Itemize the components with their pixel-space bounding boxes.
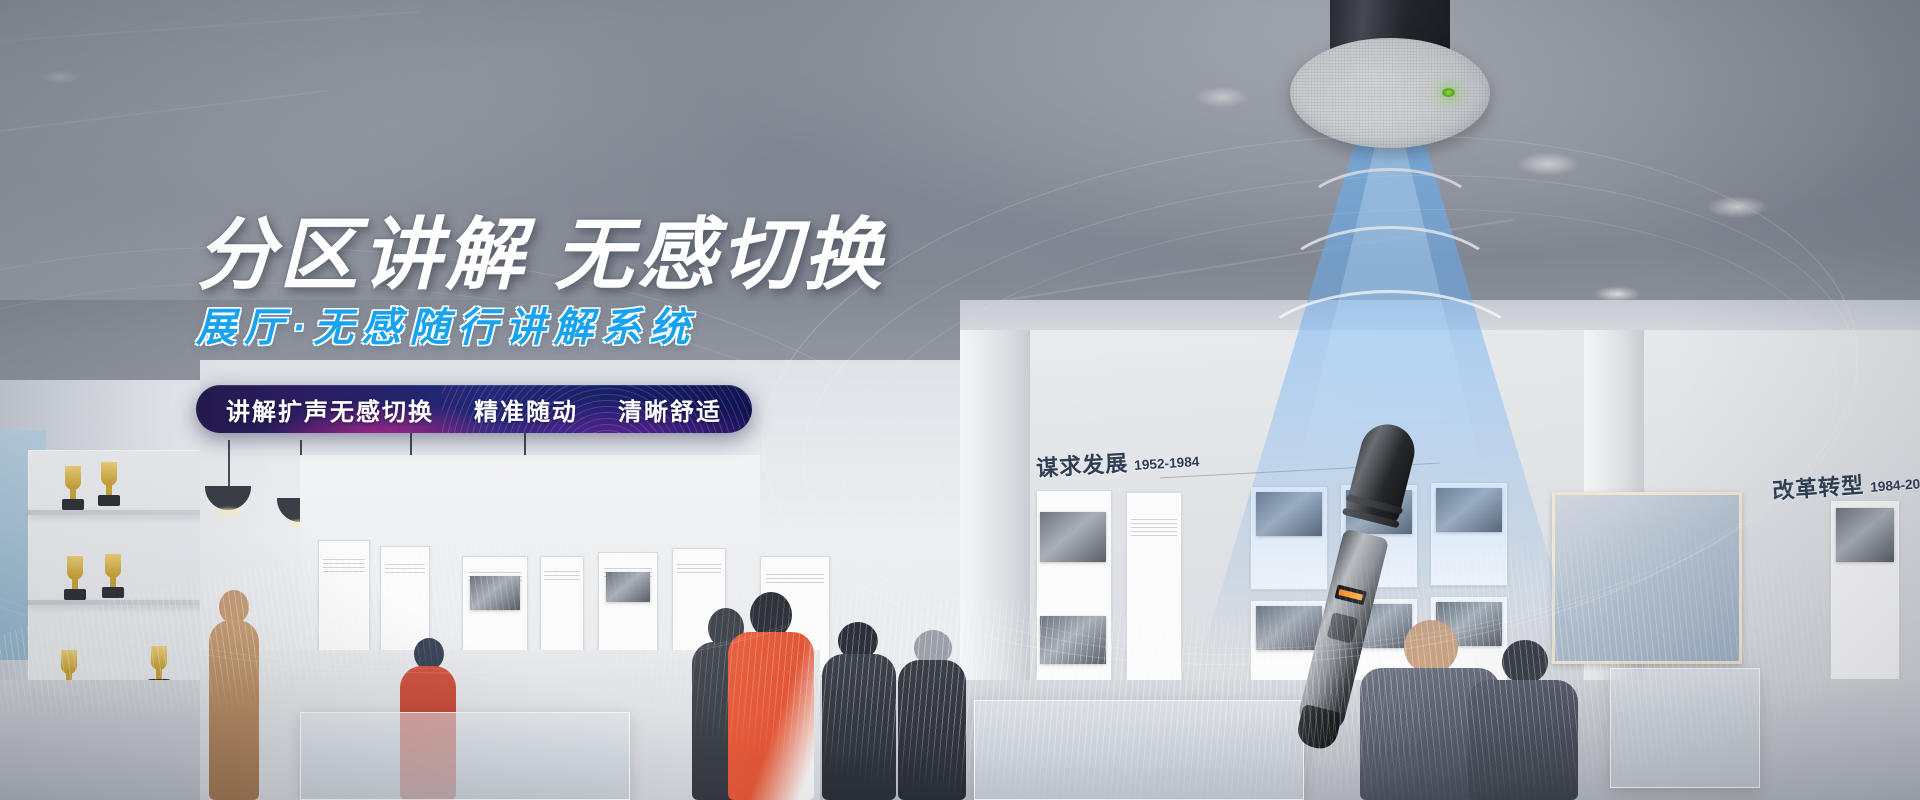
framed-painting bbox=[1552, 492, 1742, 664]
visitor-body bbox=[822, 654, 896, 800]
trophy-icon bbox=[98, 462, 120, 506]
sound-wave-arc bbox=[1252, 290, 1528, 420]
shelf bbox=[28, 600, 218, 605]
downlight-icon bbox=[1516, 152, 1580, 176]
historic-photo bbox=[470, 576, 520, 610]
shelf bbox=[28, 510, 218, 515]
downlight-icon bbox=[1706, 196, 1768, 218]
page-subtitle: 展厅·无感随行讲解系统 bbox=[196, 308, 1096, 348]
wall-exhibit-years-2: 1984-2010 bbox=[1870, 475, 1920, 495]
wall-exhibit-title-2-text: 改革转型 bbox=[1771, 472, 1865, 503]
feature-item-1: 讲解扩声无感切换 bbox=[226, 392, 434, 427]
display-case bbox=[300, 712, 630, 800]
feature-item-3: 清晰舒适 bbox=[618, 392, 722, 427]
speaker-led-indicator bbox=[1442, 88, 1455, 97]
visitor-body bbox=[898, 660, 966, 800]
visitor-body bbox=[728, 632, 814, 800]
page-title: 分区讲解 无感切换 bbox=[196, 215, 1096, 294]
trophy-icon bbox=[62, 466, 84, 510]
display-case bbox=[1610, 668, 1760, 788]
visitor bbox=[898, 630, 966, 800]
wall-exhibit-title-1-text: 谋求发展 bbox=[1035, 450, 1128, 481]
painting-art bbox=[1555, 495, 1739, 661]
visitor bbox=[728, 592, 814, 800]
trophy-icon bbox=[102, 554, 124, 598]
statue bbox=[205, 590, 261, 800]
visitor bbox=[822, 622, 896, 800]
exhibit-panel bbox=[1126, 492, 1182, 682]
downlight-icon bbox=[40, 70, 80, 84]
downlight-icon bbox=[1195, 86, 1249, 108]
pendant-cord bbox=[228, 440, 230, 486]
speaker-grille bbox=[1290, 38, 1490, 148]
statue-head bbox=[219, 590, 249, 624]
statue-body bbox=[209, 620, 259, 800]
wall-exhibit-years-1: 1952-1984 bbox=[1134, 454, 1200, 473]
historic-photo bbox=[606, 572, 650, 602]
headline-block: 分区讲解 无感切换 展厅·无感随行讲解系统 bbox=[196, 215, 1096, 348]
exhibit-panel bbox=[598, 552, 658, 662]
historic-photo bbox=[1836, 508, 1894, 562]
visitor-body bbox=[1468, 680, 1578, 800]
historic-photo bbox=[1040, 512, 1106, 562]
ceiling-speaker bbox=[1290, 0, 1490, 158]
exhibit-panel bbox=[540, 556, 584, 660]
historic-photo bbox=[1040, 616, 1106, 664]
feature-item-2: 精准随动 bbox=[474, 392, 578, 427]
display-case bbox=[974, 700, 1304, 800]
feature-pill: 讲解扩声无感切换 精准随动 清晰舒适 bbox=[196, 385, 752, 433]
lamp-glow bbox=[211, 506, 245, 518]
visitor bbox=[1468, 640, 1578, 800]
trophy-icon bbox=[64, 556, 86, 600]
promo-banner: 谋求发展1952-1984 改革转型1984-2010 bbox=[0, 0, 1920, 800]
